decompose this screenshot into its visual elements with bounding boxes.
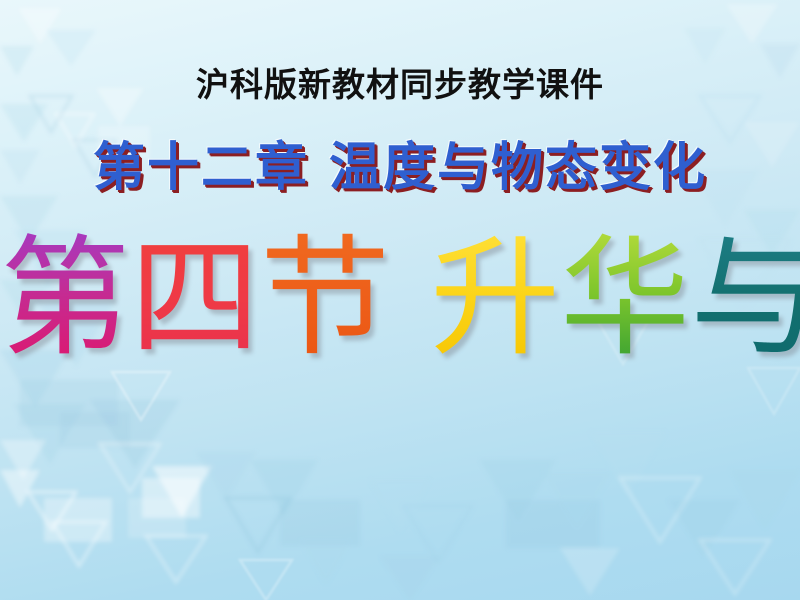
- title-glyph: 升: [430, 222, 560, 375]
- title-glyph: 四: [130, 222, 260, 375]
- chapter-heading: 第十二章 温度与物态变化: [0, 125, 800, 200]
- title-word-gap: [390, 342, 430, 343]
- title-glyph: 节: [260, 222, 390, 375]
- title-glyph: 第: [0, 222, 130, 375]
- section-title-wordart: 第四节升华与凝华: [0, 222, 800, 375]
- series-subtitle: 沪科版新教材同步教学课件: [0, 58, 800, 106]
- presentation-slide: 沪科版新教材同步教学课件 第十二章 温度与物态变化 第四节升华与凝华: [0, 0, 800, 600]
- title-glyph: 与: [690, 222, 800, 375]
- title-glyph: 华: [560, 222, 690, 375]
